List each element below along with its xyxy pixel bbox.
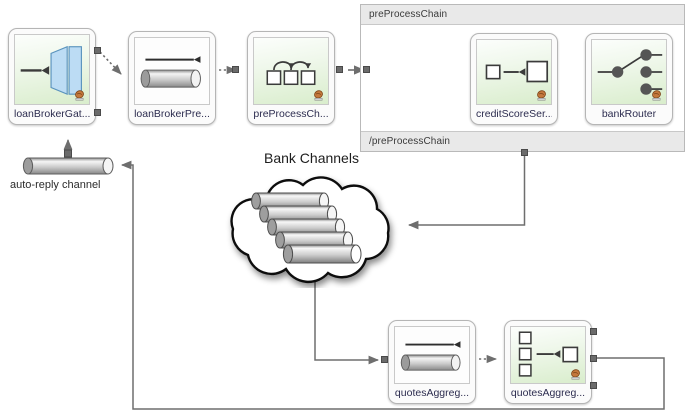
spring-bean-icon: [569, 368, 582, 381]
spring-bean-icon: [650, 89, 663, 102]
chain-icon: [253, 37, 329, 105]
cloud-bank-channels[interactable]: [208, 163, 408, 288]
port-group-out[interactable]: [521, 149, 528, 156]
node-label: loanBrokerPre...: [134, 105, 210, 124]
node-quotesaggregator-channel[interactable]: quotesAggreg...: [388, 320, 476, 404]
gateway-icon: [14, 34, 90, 105]
diagram-canvas: preProcessChain /preProcessChain loanBro…: [0, 0, 688, 419]
node-bankrouter[interactable]: bankRouter: [585, 33, 673, 125]
autoreply-channel-label: auto-reply channel: [10, 179, 101, 191]
port-gateway-top[interactable]: [94, 47, 101, 54]
standalone-autoreply-channel[interactable]: [22, 155, 116, 177]
node-label: quotesAggreg...: [395, 384, 469, 403]
pipe-icon: [22, 155, 116, 177]
node-label: preProcessCh...: [253, 105, 328, 124]
node-quotesaggregator[interactable]: quotesAggreg...: [504, 320, 592, 404]
port-aggregator-se[interactable]: [590, 382, 597, 389]
port-aggchannel-in[interactable]: [381, 356, 388, 363]
port-prechain-out[interactable]: [336, 66, 343, 73]
port-group-in[interactable]: [363, 66, 370, 73]
group-header-label: preProcessChain: [361, 5, 684, 25]
channel-pipe-icon: [134, 37, 210, 105]
node-label: creditScoreSer...: [476, 105, 552, 124]
edge-cloud-to-aggchannel: [315, 278, 378, 360]
channel-pipe-icon: [394, 326, 470, 384]
spring-bean-icon: [312, 89, 325, 102]
port-gateway-bottom[interactable]: [94, 109, 101, 116]
aggregator-icon: [510, 326, 586, 384]
node-loanbrokergateway[interactable]: loanBrokerGat...: [8, 28, 96, 125]
node-preprocesschain[interactable]: preProcessCh...: [247, 31, 335, 125]
group-footer-label: /preProcessChain: [361, 131, 684, 151]
node-label: bankRouter: [602, 105, 656, 124]
node-label: loanBrokerGat...: [14, 105, 90, 124]
edge-gateway-to-prechannel: [100, 52, 121, 74]
port-aggregator-e[interactable]: [590, 355, 597, 362]
spring-bean-icon: [73, 89, 86, 102]
port-aggregator-ne[interactable]: [590, 328, 597, 335]
node-creditscoreservice[interactable]: creditScoreSer...: [470, 33, 558, 125]
node-loanbrokerpre-channel[interactable]: loanBrokerPre...: [128, 31, 216, 125]
router-icon: [591, 39, 667, 105]
port-prechain-in[interactable]: [232, 66, 239, 73]
transformer-icon: [476, 39, 552, 105]
spring-bean-icon: [535, 89, 548, 102]
node-label: quotesAggreg...: [511, 384, 585, 403]
edge-group-to-cloud: [409, 156, 525, 225]
